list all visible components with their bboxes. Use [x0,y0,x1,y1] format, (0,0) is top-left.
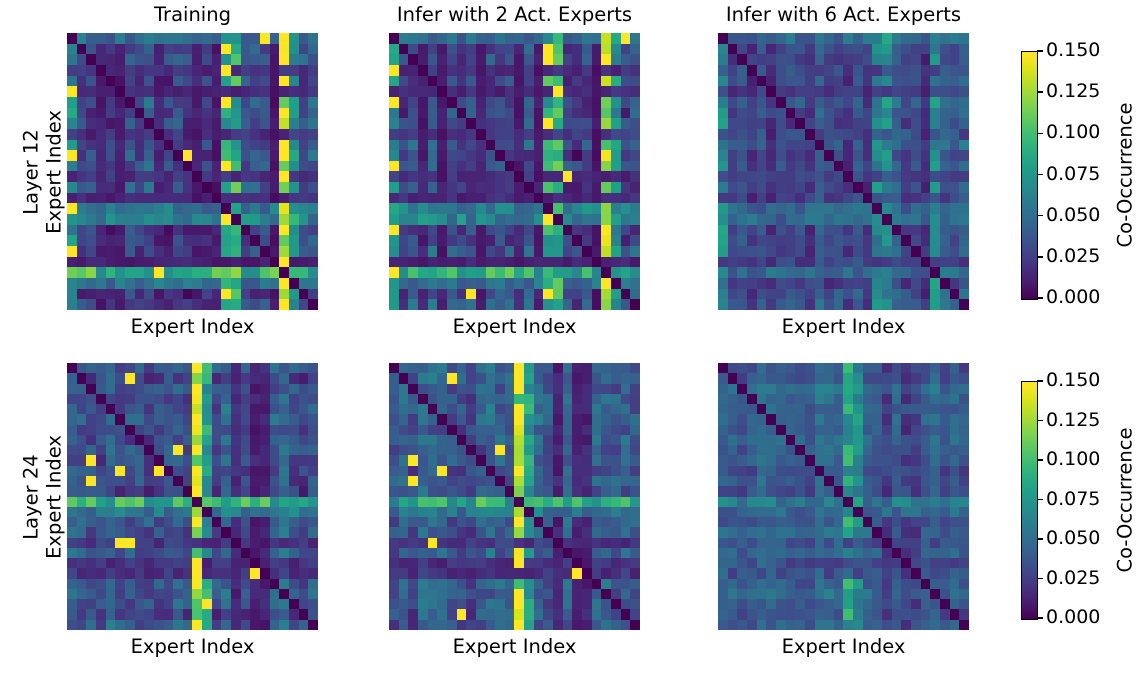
colorbar-ticklabel-1-3: 0.075 [1046,165,1100,184]
xaxis-label-r0c0: Expert Index [67,316,318,338]
xaxis-label-r0c2: Expert Index [718,316,969,338]
colorbar-ticklabel-1-1: 0.025 [1046,247,1100,266]
colorbar-ticklabel-2-3: 0.075 [1046,490,1100,509]
yaxis-label-r1: Layer 24Expert Index [19,363,67,630]
colorbar-tick-1-6 [1037,50,1043,52]
colorbar-tick-2-4 [1037,459,1043,461]
colorbar-ticklabel-2-4: 0.100 [1046,450,1100,469]
colorbar-ticklabel-2-1: 0.025 [1046,569,1100,588]
yaxis-row-label-r0: Layer 12 [19,33,42,310]
colorbar-ticklabel-2-6: 0.150 [1046,371,1100,390]
colorbar-2 [1021,381,1038,620]
xaxis-label-r0c1: Expert Index [389,316,640,338]
colorbar-tick-1-3 [1037,174,1043,176]
xaxis-label-r1c0: Expert Index [67,636,318,658]
colorbar-tick-2-6 [1037,380,1043,382]
xaxis-label-r1c1: Expert Index [389,636,640,658]
colorbar-tick-1-0 [1037,297,1043,299]
colorbar-tick-2-5 [1037,420,1043,422]
colorbar-ticklabel-2-0: 0.000 [1046,608,1100,627]
colorbar-ticklabel-1-4: 0.100 [1046,123,1100,142]
colorbar-tick-1-5 [1037,91,1043,93]
yaxis-row-label-r1: Layer 24 [19,363,42,630]
colorbar-ticklabel-1-0: 0.000 [1046,288,1100,307]
colorbar-ticklabel-1-2: 0.050 [1046,206,1100,225]
colorbar-1 [1021,51,1038,300]
colorbar-tick-1-4 [1037,133,1043,135]
colorbar-ticklabel-1-5: 0.125 [1046,82,1100,101]
panel-title-r0c0: Training [67,4,318,26]
panel-title-r0c2: Infer with 6 Act. Experts [718,4,969,26]
colorbar-tick-2-2 [1037,538,1043,540]
heatmap-layer-24-col1 [389,363,640,630]
colorbar-tick-1-1 [1037,256,1043,258]
colorbar-tick-2-1 [1037,578,1043,580]
colorbar-ticklabel-2-2: 0.050 [1046,529,1100,548]
colorbar-ticklabel-1-6: 0.150 [1046,41,1100,60]
colorbar-tick-1-2 [1037,215,1043,217]
colorbar-tick-2-0 [1037,617,1043,619]
heatmap-layer-12-col2 [718,33,969,310]
xaxis-label-r1c2: Expert Index [718,636,969,658]
panel-title-r0c1: Infer with 2 Act. Experts [389,4,640,26]
colorbar-label-1: Co-Occurrence [1114,41,1138,308]
colorbar-label-2: Co-Occurrence [1114,371,1138,628]
heatmap-layer-24-col0 [67,363,318,630]
colorbar-ticklabel-2-5: 0.125 [1046,411,1100,430]
yaxis-label-r0: Layer 12Expert Index [19,33,67,310]
heatmap-layer-12-col1 [389,33,640,310]
yaxis-expert-index-r1: Expert Index [42,363,65,630]
colorbar-gradient-1 [1022,52,1037,299]
yaxis-expert-index-r0: Expert Index [42,33,65,310]
heatmap-layer-12-col0 [67,33,318,310]
colorbar-gradient-2 [1022,382,1037,619]
heatmap-layer-24-col2 [718,363,969,630]
colorbar-tick-2-3 [1037,499,1043,501]
figure-canvas: TrainingExpert IndexLayer 12Expert Index… [0,0,1141,673]
